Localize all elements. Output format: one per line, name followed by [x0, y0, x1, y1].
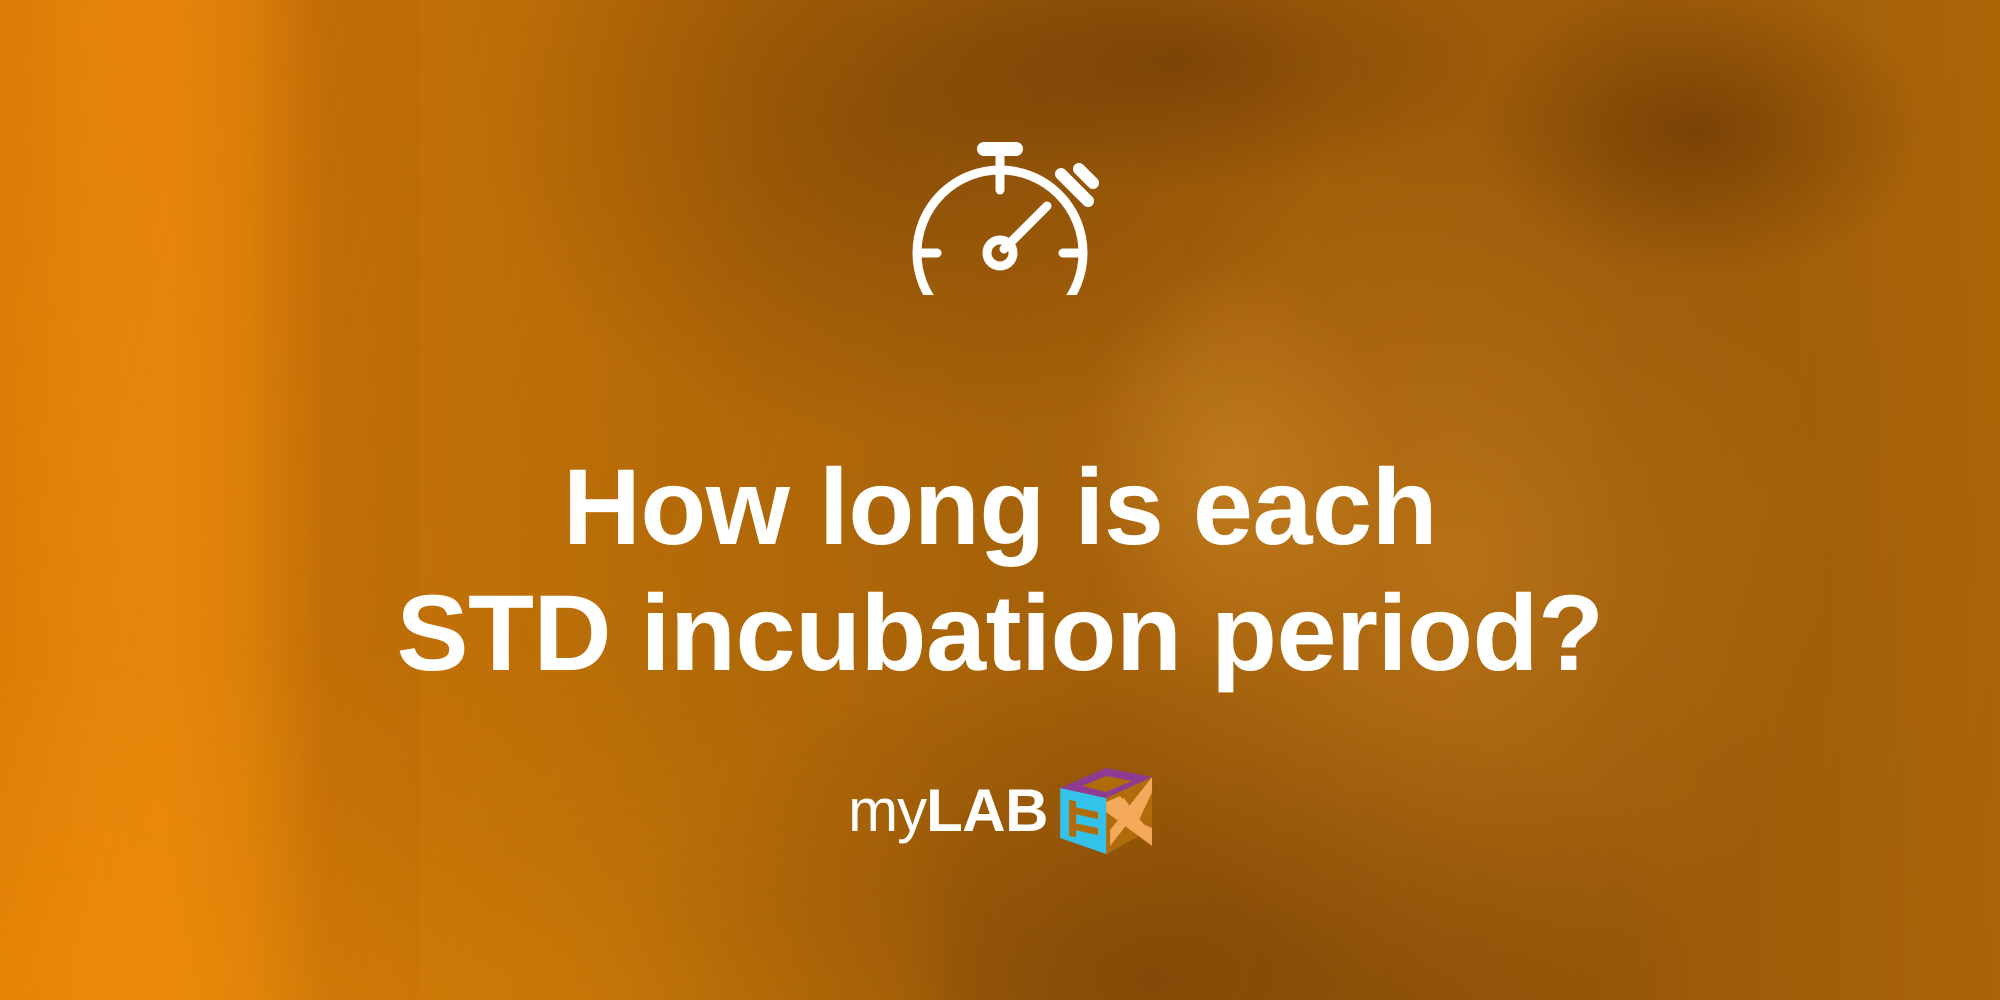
social-banner-card: How long is each STD incubation period? … — [0, 0, 2000, 1000]
headline-line-2: STD incubation period? — [0, 570, 2000, 695]
banner-headline: How long is each STD incubation period? — [0, 444, 2000, 695]
mylab-box-logo[interactable]: myLAB — [848, 768, 1152, 854]
banner-content: How long is each STD incubation period? … — [0, 0, 2000, 1000]
headline-line-1: How long is each — [0, 444, 2000, 569]
brand-wordmark: myLAB — [848, 781, 1048, 841]
brand-word-lab: LAB — [926, 781, 1048, 841]
mylab-box-cube-icon — [1060, 768, 1152, 854]
brand-word-my: my — [848, 781, 926, 841]
stopwatch-icon — [865, 130, 1135, 295]
